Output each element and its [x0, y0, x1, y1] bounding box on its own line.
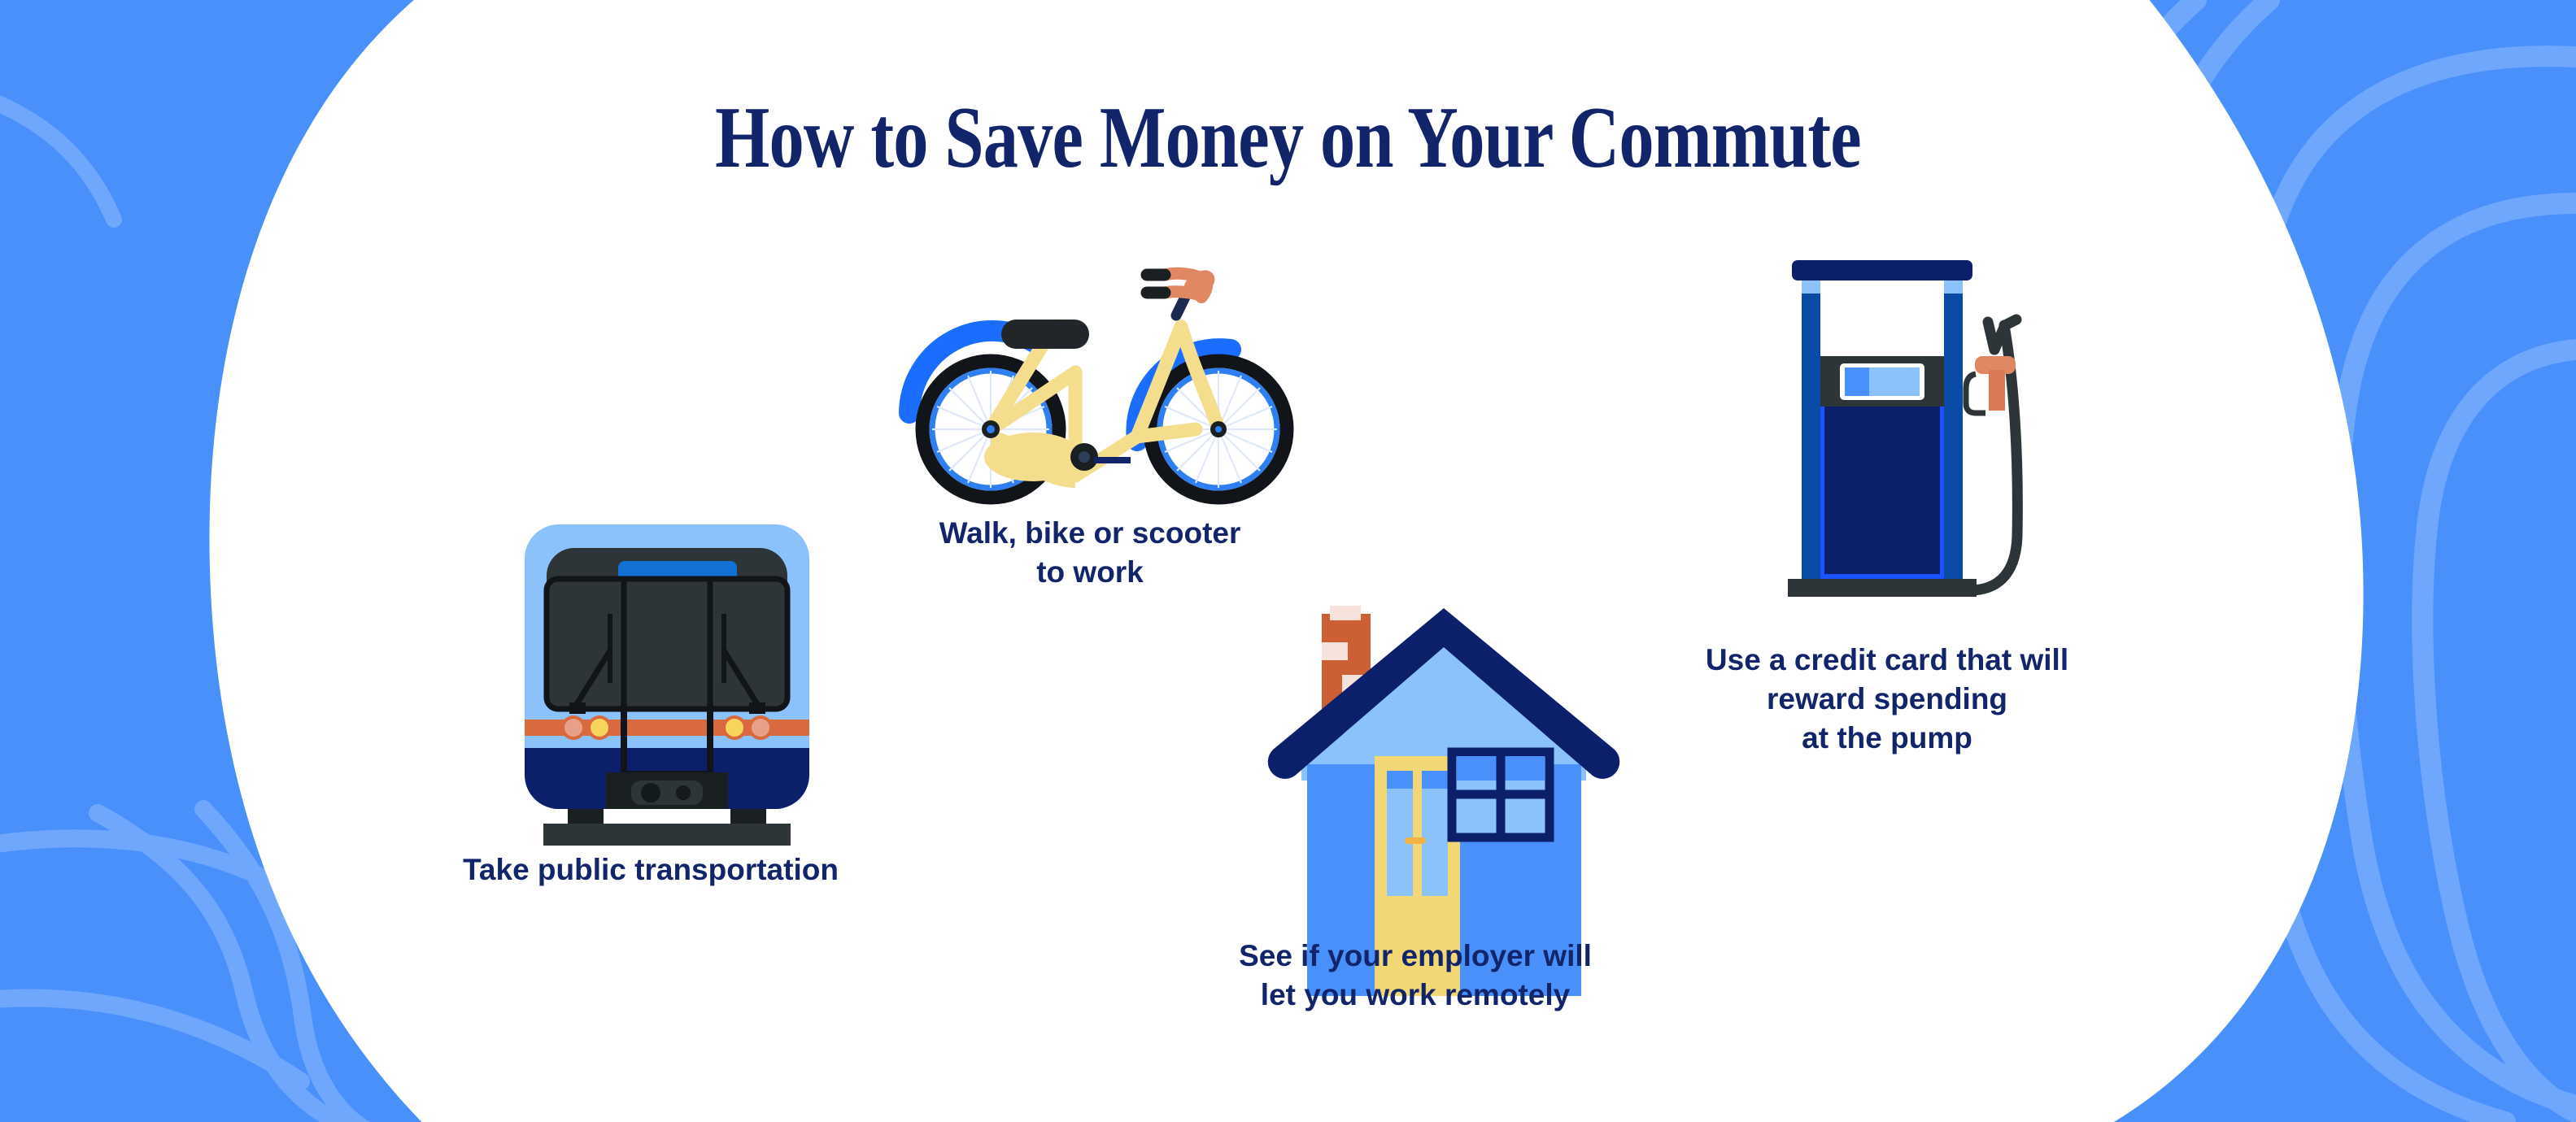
bus-wiper-pivot [749, 702, 765, 714]
caption-walk-bike-scooter: Walk, bike or scooter to work [813, 514, 1366, 592]
gas-pump-top-cap [1792, 260, 1972, 280]
gas-pump-column-left [1802, 272, 1820, 581]
bus-lamp-red [752, 719, 769, 737]
gas-pump-icon [1788, 260, 2017, 597]
bus-lamp-amber [591, 719, 608, 737]
bus-wheel-left [568, 809, 604, 824]
bus-ground-bar [543, 824, 791, 846]
bus-icon [525, 524, 809, 846]
bike-crank-center [1079, 451, 1090, 463]
bicycle-icon [909, 273, 1287, 498]
bus-wheel-right [730, 809, 766, 824]
house-door-glass [1422, 789, 1448, 896]
house-door-glass-top [1387, 771, 1413, 789]
gas-pump-nozzle-body [1989, 370, 2005, 411]
bus-headlight [641, 783, 660, 802]
bus-lamp-amber [726, 719, 743, 737]
gas-pump-column-right [1944, 272, 1963, 581]
house-door-glass-top [1422, 771, 1448, 789]
bike-saddle [1001, 320, 1089, 349]
bike-front-hub-center [1215, 426, 1222, 433]
house-chimney-cap [1330, 606, 1361, 620]
caption-public-transportation: Take public transportation [350, 850, 952, 889]
gas-pump-panel [1824, 407, 1940, 574]
bus-lamp-red [564, 719, 582, 737]
bike-chain-guard [984, 433, 1082, 481]
bus-headlight [676, 785, 691, 800]
bike-rear-hub-center [987, 425, 995, 433]
house-window-pane [1457, 756, 1497, 781]
house-window-pane [1504, 756, 1545, 781]
gas-pump-base [1788, 579, 1977, 597]
caption-credit-card-rewards: Use a credit card that will reward spend… [1602, 641, 2172, 758]
house-chimney-brick [1322, 642, 1348, 660]
caption-work-remotely: See if your employer will let you work r… [1139, 937, 1692, 1015]
house-door-handle [1405, 837, 1426, 844]
gas-pump-trigger-guard [1966, 374, 1985, 413]
bus-wiper-pivot [569, 702, 586, 714]
infographic-canvas: How to Save Money on Your Commute [0, 0, 2576, 1122]
